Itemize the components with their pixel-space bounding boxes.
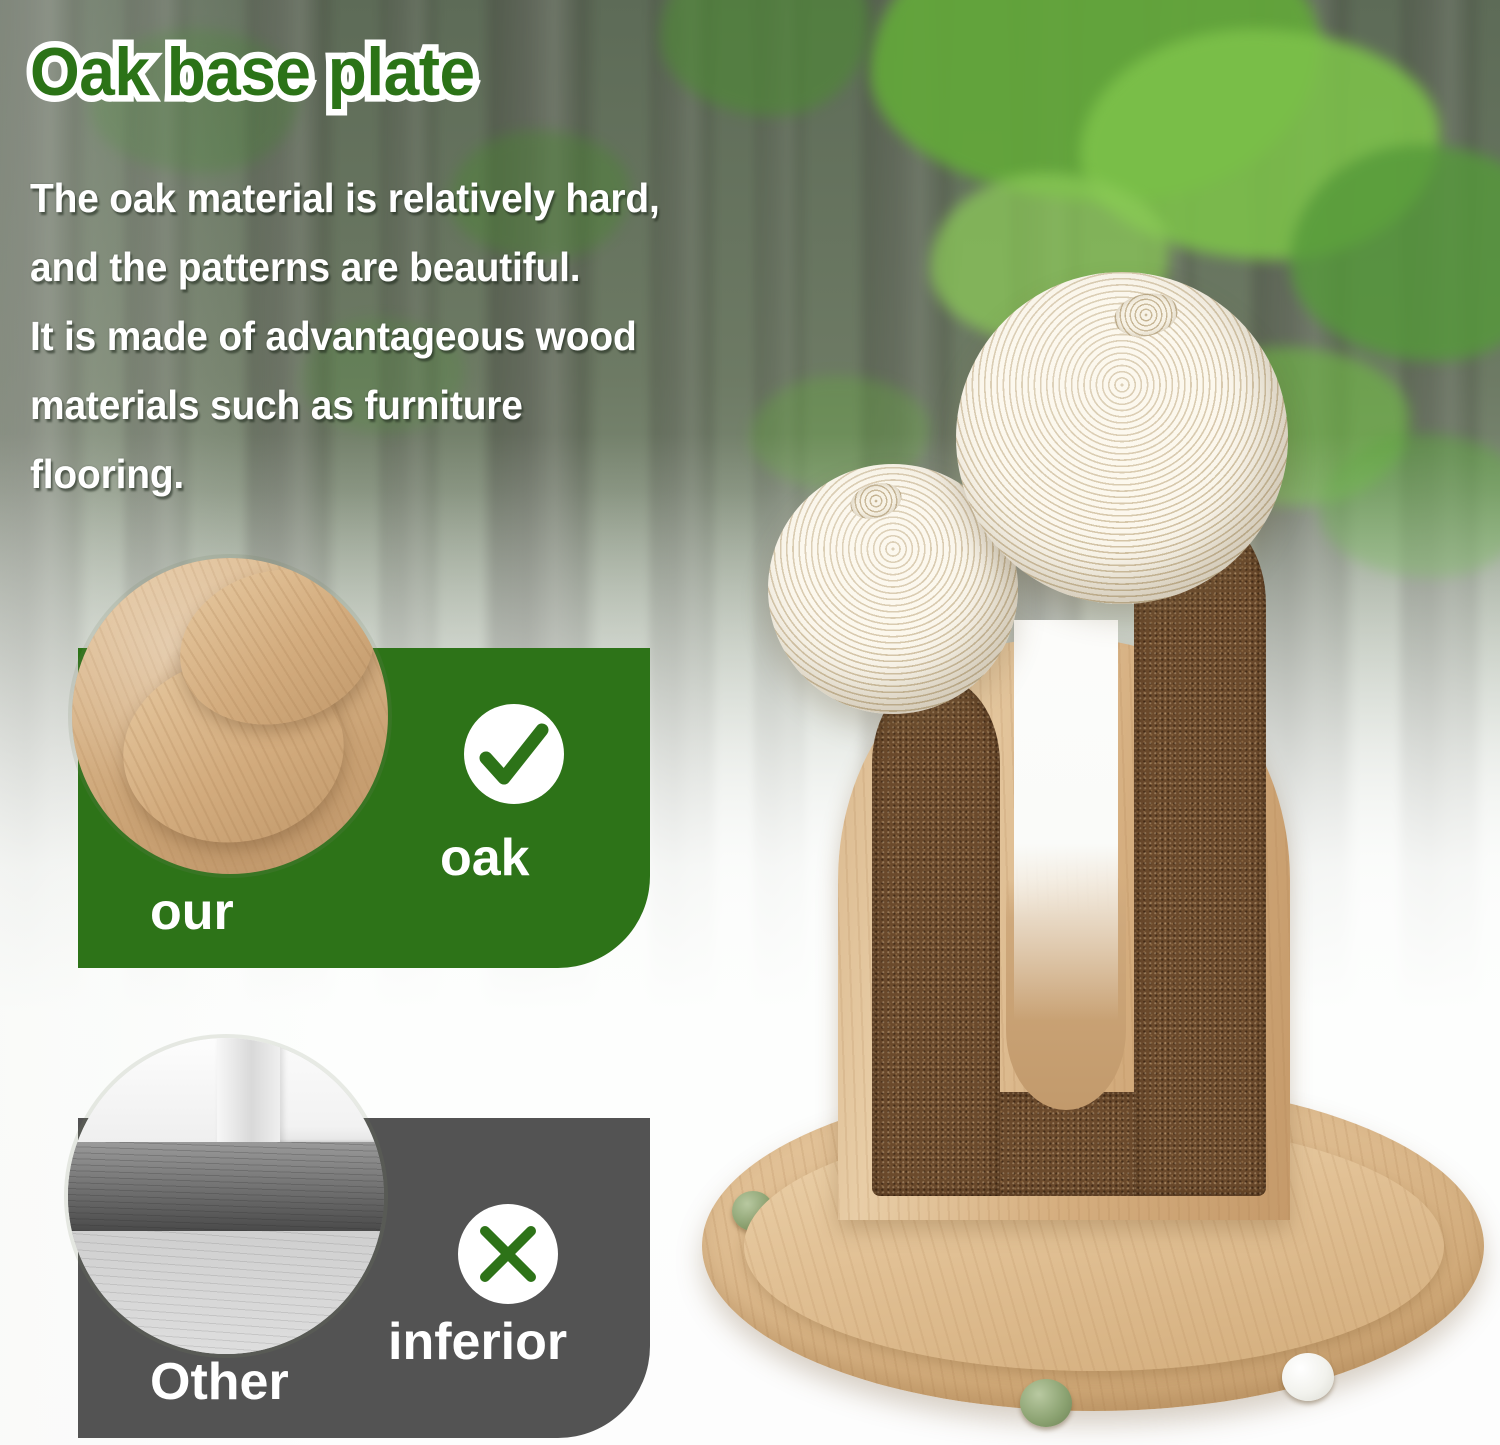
verdict-label-good: oak [440, 828, 530, 888]
white-ball-right [1282, 1353, 1334, 1401]
brand-label-bad: Other [150, 1352, 289, 1412]
product-infographic: Oak base plate The oak material is relat… [0, 0, 1500, 1445]
scratching-carpet-right [1134, 512, 1266, 1196]
oak-closeup-photo: oak base plate close-up [72, 558, 388, 874]
u-shaped-post [838, 640, 1290, 1220]
verdict-label-bad: inferior [388, 1312, 567, 1372]
sisal-knot [1110, 288, 1181, 342]
page-title: Oak base plate [30, 38, 475, 106]
scratching-carpet-left [872, 676, 1000, 1196]
brand-label-good: our [150, 882, 234, 942]
product-name: cat scratching post with sisal balls [660, 240, 661, 241]
post-notch-cut [1014, 620, 1118, 1086]
check-icon [464, 704, 564, 804]
catnip-ball-bottom [1020, 1379, 1072, 1427]
other-closeup-photo: laminate flooring edge close-up [68, 1038, 384, 1354]
cross-icon [458, 1204, 558, 1304]
sisal-knot [846, 477, 905, 524]
product-photo: cat scratching post with sisal balls [660, 240, 1500, 1445]
description-line: The oak material is relatively hard, [30, 168, 866, 229]
other-laminate-edge [68, 1142, 384, 1230]
large-sisal-ball [956, 272, 1288, 604]
other-floor [68, 1231, 384, 1354]
